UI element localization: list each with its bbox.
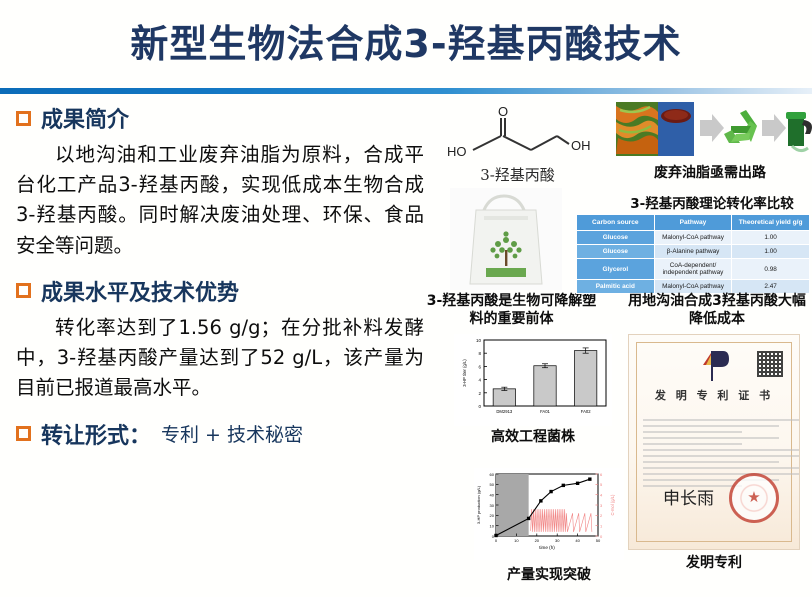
- svg-text:FA02: FA02: [581, 409, 591, 414]
- svg-text:0: 0: [495, 538, 498, 543]
- bag-caption: 3-羟基丙酸是生物可降解塑料的重要前体: [424, 292, 599, 328]
- svg-text:40: 40: [490, 492, 495, 497]
- atom-label-oh: OH: [571, 138, 591, 153]
- svg-text:10: 10: [514, 538, 519, 543]
- svg-text:3: 3: [600, 503, 603, 508]
- biodegradable-bag-photo: [450, 188, 562, 290]
- section-body-advantage: 转化率达到了1.56 g/g；在分批补料发酵中，3-羟基丙酸产量达到了52 g/…: [16, 313, 424, 404]
- square-bullet-icon: [16, 426, 31, 441]
- atom-label-o: O: [497, 104, 507, 119]
- svg-text:30: 30: [490, 503, 495, 508]
- svg-text:30: 30: [555, 538, 560, 543]
- cell-yield: 1.00: [732, 245, 810, 259]
- svg-text:DM2913: DM2913: [496, 409, 512, 414]
- svg-text:2: 2: [600, 513, 603, 518]
- svg-text:10: 10: [476, 338, 482, 343]
- slide-title-bar: 新型生物法合成3-羟基丙酸技术: [0, 0, 812, 80]
- svg-text:50: 50: [490, 482, 495, 487]
- svg-text:0: 0: [600, 534, 603, 539]
- section-heading-advantage-label: 成果水平及技术优势: [41, 275, 239, 307]
- plastic-bag-icon: [450, 188, 562, 290]
- svg-text:6: 6: [478, 364, 481, 369]
- bar-chart-svg: 0246810DM2913FA01FA023-HP titer (g/L): [454, 334, 612, 426]
- cell-pathway: Malonyl-CoA pathway: [654, 231, 732, 245]
- section-heading-intro: 成果简介: [16, 102, 428, 134]
- svg-text:FA01: FA01: [540, 409, 550, 414]
- svg-text:6: 6: [600, 472, 603, 477]
- col-carbon-source: Carbon source: [577, 215, 655, 231]
- left-text-column: 成果简介 以地沟油和工业废弃油脂为原料，合成平台化工产品3-羟基丙酸，实现低成本…: [10, 102, 428, 456]
- section-transfer-value: 专利 + 技术秘密: [161, 420, 303, 447]
- cell-source: Glucose: [577, 231, 655, 245]
- svg-text:time (h): time (h): [539, 545, 555, 550]
- svg-text:1: 1: [600, 523, 603, 528]
- svg-text:4: 4: [600, 492, 603, 497]
- slide-root: 新型生物法合成3-羟基丙酸技术 成果简介 以地沟油和工业废弃油脂为原料，合成平台…: [0, 0, 812, 597]
- svg-text:8: 8: [478, 351, 481, 356]
- oil-caption: 废弃油脂亟需出路: [610, 164, 810, 182]
- table-row: Glucose β-Alanine pathway 1.00: [577, 245, 810, 259]
- svg-text:20: 20: [490, 513, 495, 518]
- col-pathway: Pathway: [654, 215, 732, 231]
- waste-oil-recycle-icon: [616, 100, 812, 160]
- cell-yield: 1.00: [732, 231, 810, 245]
- certificate-field-lines: [629, 415, 799, 491]
- table-row: Glycerol CoA-dependent/ independent path…: [577, 259, 810, 280]
- section-body-intro: 以地沟油和工业废弃油脂为原料，合成平台化工产品3-羟基丙酸，实现低成本生物合成3…: [16, 140, 424, 261]
- section-heading-transfer-label: 转让形式：: [41, 418, 151, 450]
- table-row: Glucose Malonyl-CoA pathway 1.00: [577, 231, 810, 245]
- chemical-structure-figure: O HO OH 3-羟基丙酸: [430, 104, 605, 185]
- cell-yield: 0.98: [732, 259, 810, 280]
- cell-pathway: CoA-dependent/ independent pathway: [654, 259, 732, 280]
- bar-chart-figure: 0246810DM2913FA01FA023-HP titer (g/L): [454, 334, 612, 426]
- svg-text:5: 5: [600, 482, 603, 487]
- line-chart-svg: 0102030405060010203040500123456time (h)3…: [474, 468, 624, 560]
- certificate-body: 发 明 专 利 证 书 申长雨: [628, 334, 800, 550]
- yield-table-title: 3-羟基丙酸理论转化率比较: [612, 192, 812, 212]
- square-bullet-icon: [16, 283, 31, 298]
- svg-text:20: 20: [535, 538, 540, 543]
- official-seal-icon: [729, 473, 779, 523]
- cell-source: Glycerol: [577, 259, 655, 280]
- page-title: 新型生物法合成3-羟基丙酸技术: [130, 13, 681, 68]
- svg-text:3-HP production (g/L): 3-HP production (g/L): [476, 485, 481, 524]
- svg-text:C-mol (g/L): C-mol (g/L): [610, 494, 615, 516]
- svg-text:2: 2: [478, 391, 481, 396]
- table-header-row: Carbon source Pathway Theoretical yield …: [577, 215, 810, 231]
- col-yield: Theoretical yield g/g: [732, 215, 810, 231]
- certificate-signature: 申长雨: [663, 484, 714, 509]
- section-heading-intro-label: 成果简介: [41, 102, 129, 134]
- section-heading-transfer: 转让形式： 专利 + 技术秘密: [16, 418, 428, 450]
- section-heading-advantage: 成果水平及技术优势: [16, 275, 428, 307]
- patent-certificate-figure: 发 明 专 利 证 书 申长雨: [628, 334, 800, 550]
- square-bullet-icon: [16, 111, 31, 126]
- svg-text:40: 40: [575, 538, 580, 543]
- atom-label-ho: HO: [447, 144, 467, 159]
- right-figure-column: O HO OH 3-羟基丙酸: [424, 96, 812, 596]
- svg-text:3-HP titer (g/L): 3-HP titer (g/L): [462, 359, 467, 387]
- title-divider-rule: [0, 88, 812, 94]
- molecule-icon: O HO OH: [443, 104, 593, 166]
- line-chart-figure: 0102030405060010203040500123456time (h)3…: [474, 468, 624, 560]
- svg-text:60: 60: [490, 472, 495, 477]
- table-caption: 用地沟油合成3羟基丙酸大幅降低成本: [624, 292, 810, 328]
- certificate-title: 发 明 专 利 证 书: [629, 387, 799, 403]
- recycle-icon: [724, 110, 757, 143]
- svg-text:10: 10: [490, 523, 495, 528]
- qr-code-icon: [757, 351, 783, 377]
- theoretical-yield-table: Carbon source Pathway Theoretical yield …: [576, 214, 810, 294]
- svg-text:0: 0: [478, 404, 481, 409]
- waste-oil-figure: [616, 100, 812, 160]
- molecule-name: 3-羟基丙酸: [430, 164, 605, 185]
- bar-chart-caption: 高效工程菌株: [454, 428, 612, 446]
- cnipa-logo-icon: [697, 349, 731, 383]
- svg-text:4: 4: [478, 378, 481, 383]
- patent-caption: 发明专利: [628, 554, 800, 572]
- line-chart-caption: 产量实现突破: [464, 566, 634, 584]
- cell-source: Glucose: [577, 245, 655, 259]
- cell-pathway: β-Alanine pathway: [654, 245, 732, 259]
